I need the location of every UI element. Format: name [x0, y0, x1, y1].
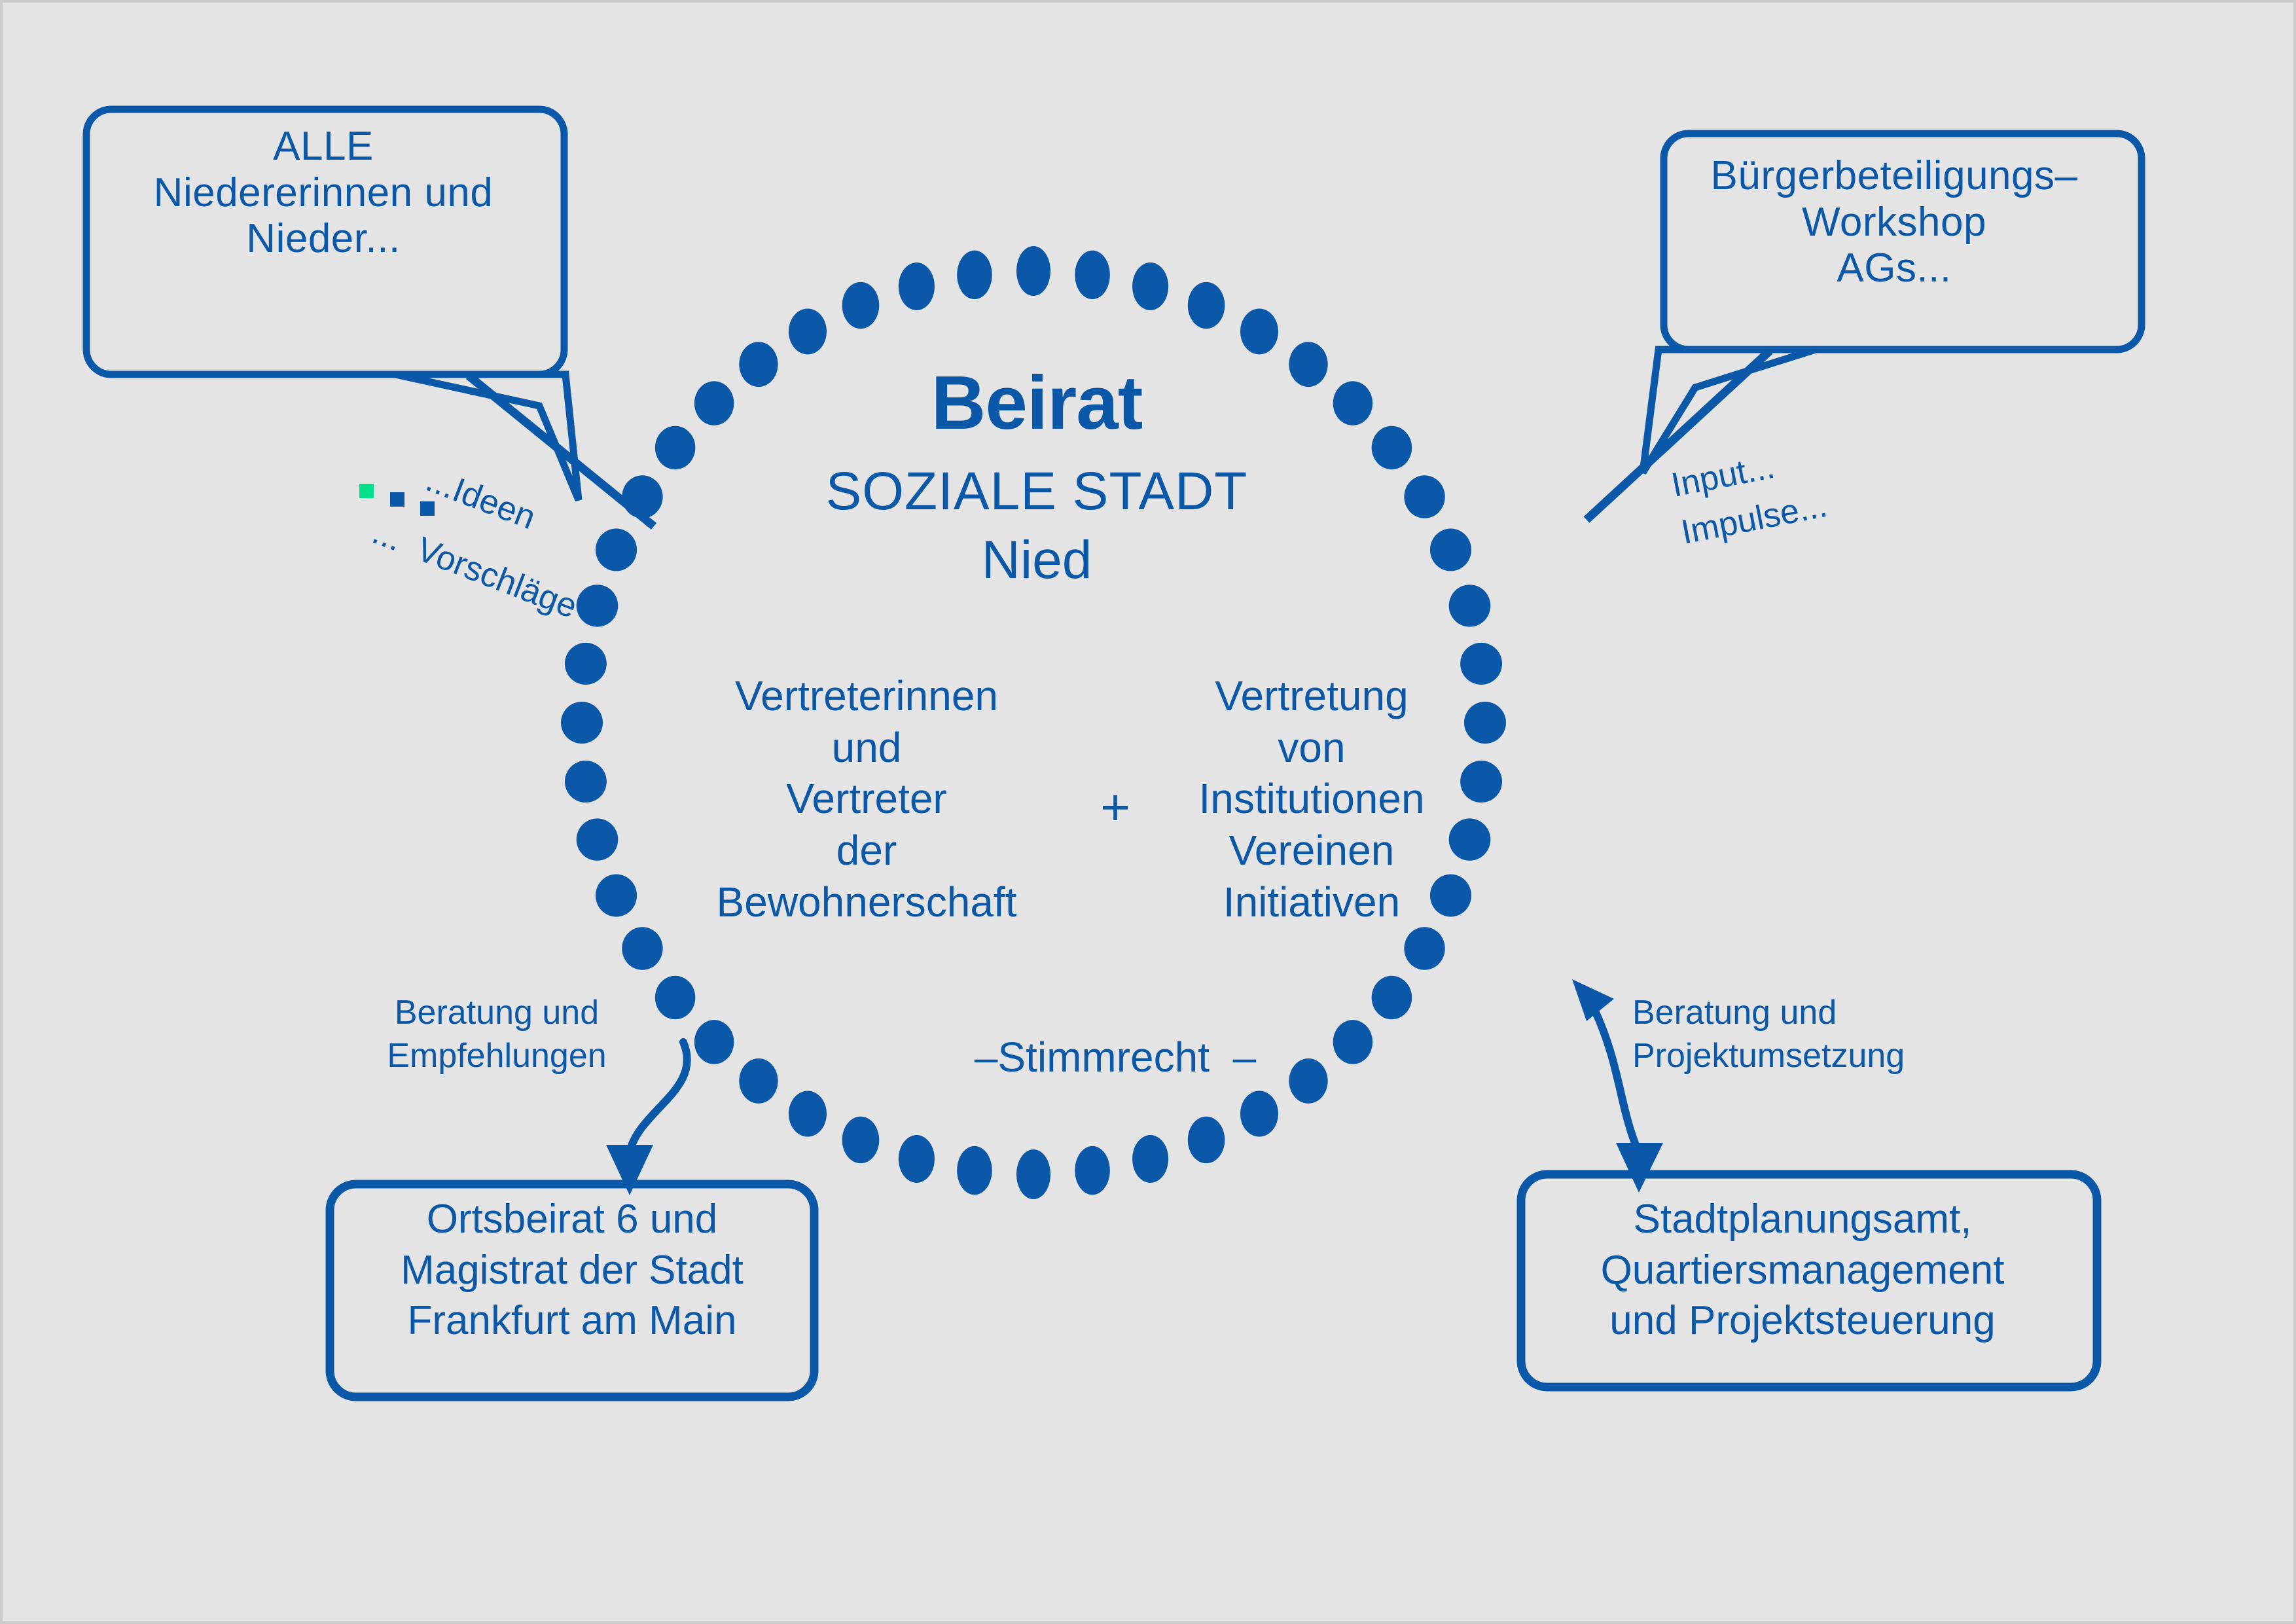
circle-dot — [1188, 1117, 1225, 1163]
circle-dot — [957, 1146, 992, 1195]
leader-dot-icon — [420, 501, 435, 516]
center-subtitle-line2: Nied — [742, 530, 1331, 590]
circle-dot — [1430, 528, 1471, 571]
circle-dot — [1460, 643, 1502, 685]
circle-dot — [694, 381, 734, 425]
circle-dot — [561, 702, 603, 744]
circle-dot — [1449, 818, 1491, 860]
box-stadtplanungsamt-label: Stadtplanungsamt, Quartiersmanagement un… — [1515, 1194, 2090, 1346]
circle-dot — [1132, 1135, 1168, 1183]
circle-dot — [1240, 1091, 1278, 1137]
circle-dot — [899, 262, 935, 310]
circle-dot — [1404, 475, 1444, 518]
circle-dot — [842, 1117, 880, 1163]
circle-dot — [1372, 426, 1412, 469]
box-ortsbeirat-label: Ortsbeirat 6 und Magistrat der Stadt Fra… — [330, 1194, 814, 1346]
label-beratung-empfehlungen: Beratung und Empfehlungen — [346, 991, 647, 1077]
circle-dot — [1016, 246, 1050, 296]
circle-dot — [1372, 976, 1412, 1019]
green-dot-icon — [359, 484, 374, 498]
circle-dot — [1333, 381, 1372, 425]
center-column-right: Vertretung von Institutionen Vereinen In… — [1174, 670, 1449, 928]
circle-dot — [1132, 262, 1168, 310]
circle-dot — [1075, 1146, 1110, 1195]
circle-dot — [957, 251, 992, 299]
circle-dot — [655, 426, 696, 469]
circle-dot — [1449, 585, 1491, 626]
circle-dot — [1240, 308, 1278, 354]
circle-dot — [1075, 251, 1110, 299]
circle-dot — [694, 1020, 734, 1064]
bubble-top-left-label: ALLE Niedererinnen und Nieder... — [94, 124, 552, 262]
bubble-top-right-label: Bürgerbeteiligungs– Workshop AGs... — [1665, 153, 2123, 292]
circle-dot — [1188, 282, 1225, 329]
circle-dot — [1404, 927, 1444, 970]
label-beratung-projektumsetzung: Beratung und Projektumsetzung — [1632, 991, 1966, 1077]
center-title: Beirat — [742, 359, 1331, 446]
circle-dot — [1333, 1020, 1372, 1064]
circle-dot — [577, 818, 619, 860]
center-subtitle-line1: SOZIALE STADT — [742, 461, 1331, 522]
circle-dot — [1460, 761, 1502, 803]
circle-dot — [655, 976, 696, 1019]
plus-sign: + — [1076, 778, 1155, 837]
circle-dot — [1464, 702, 1506, 744]
circle-dot — [789, 1091, 827, 1137]
circle-dot — [565, 761, 607, 803]
circle-dot — [565, 643, 607, 685]
circle-dot — [622, 927, 662, 970]
circle-dot — [596, 875, 637, 917]
circle-dot — [739, 1058, 778, 1104]
center-column-left: Vertreterinnen und Vertreter der Bewohne… — [696, 670, 1037, 928]
voting-note: –Stimmrecht – — [906, 1034, 1325, 1081]
circle-dot — [842, 282, 880, 329]
circle-dot — [899, 1135, 935, 1183]
leader-dot-icon — [390, 492, 404, 507]
circle-dot — [577, 585, 619, 626]
circle-dot — [789, 308, 827, 354]
circle-dot — [1016, 1149, 1050, 1199]
diagram-canvas: ALLE Niedererinnen und Nieder... Bürgerb… — [0, 0, 2296, 1624]
